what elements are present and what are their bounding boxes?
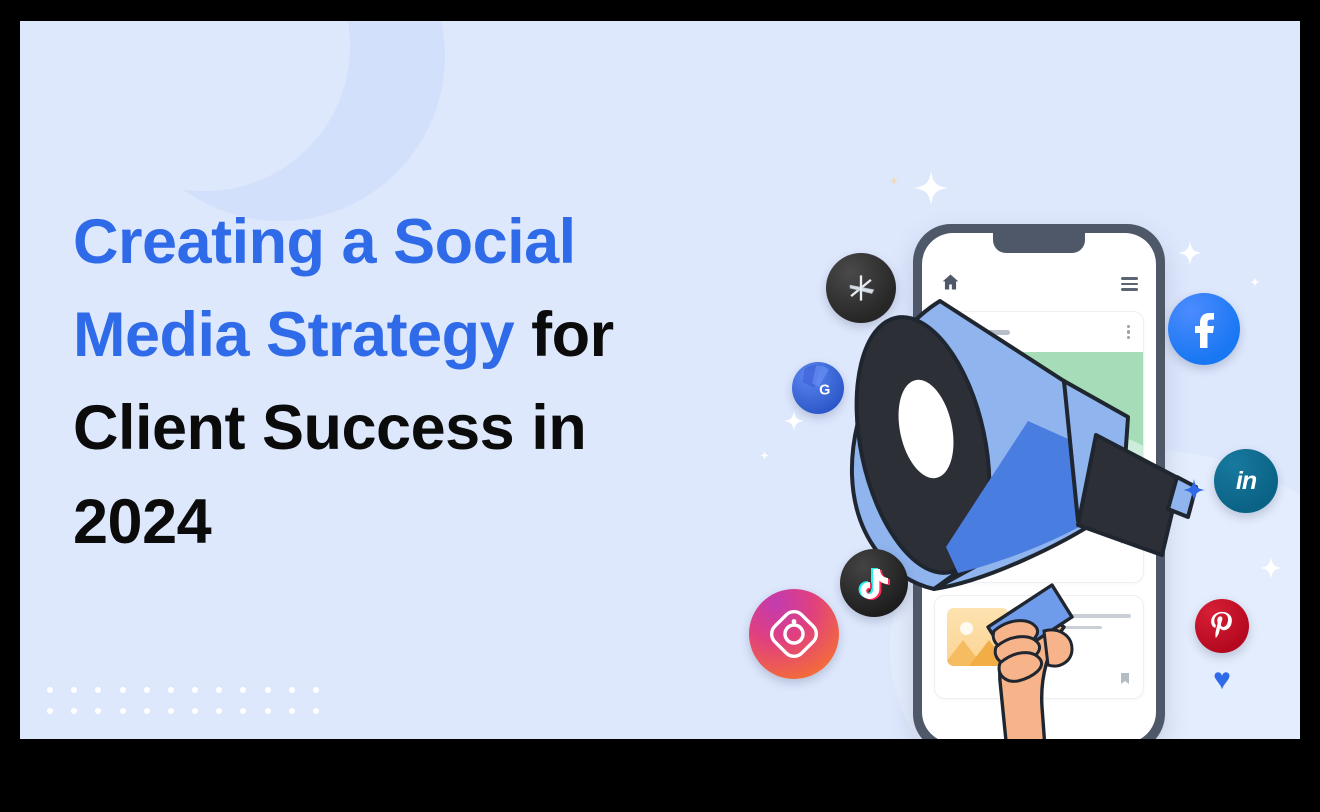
- google-icon[interactable]: G: [792, 362, 844, 414]
- x-twitter-icon[interactable]: [826, 253, 896, 323]
- sparkle-icon: [1178, 241, 1202, 265]
- linkedin-label: in: [1236, 467, 1256, 496]
- bookmark-icon[interactable]: [1121, 673, 1129, 684]
- slide-canvas: Creating a SocialMedia Strategy forClien…: [20, 21, 1300, 739]
- heart-icon[interactable]: ♥: [1206, 666, 1238, 696]
- sparkle-icon: [914, 171, 948, 205]
- hand-arm-illustration: [960, 531, 1090, 739]
- home-icon[interactable]: [940, 272, 961, 297]
- instagram-icon[interactable]: [749, 589, 839, 679]
- sparkle-icon: [760, 451, 769, 460]
- sparkle-icon: [889, 176, 899, 186]
- facebook-icon[interactable]: [1168, 293, 1240, 365]
- sparkle-icon: [1183, 479, 1205, 501]
- sparkle-icon: [1250, 277, 1260, 287]
- linkedin-icon[interactable]: in: [1214, 449, 1278, 513]
- sparkle-icon: [1260, 557, 1282, 579]
- phone-notch: [993, 233, 1085, 253]
- svg-text:G: G: [819, 383, 830, 399]
- sparkle-icon: [784, 411, 804, 431]
- pinterest-icon[interactable]: [1195, 599, 1249, 653]
- dot-grid-decoration: [38, 679, 328, 721]
- phone-top-bar: [922, 267, 1156, 301]
- slide-frame: Creating a SocialMedia Strategy forClien…: [0, 0, 1320, 812]
- headline-plain-for: for: [514, 300, 613, 370]
- hamburger-menu-icon[interactable]: [1121, 274, 1138, 293]
- headline-accent-line2: Media Strategy: [73, 300, 514, 370]
- tiktok-icon[interactable]: [840, 549, 908, 617]
- headline-accent-line1: Creating a Social: [73, 207, 576, 277]
- headline-plain-line3: Client Success in: [73, 393, 586, 463]
- page-title: Creating a SocialMedia Strategy forClien…: [73, 196, 773, 569]
- headline-plain-line4: 2024: [73, 487, 211, 557]
